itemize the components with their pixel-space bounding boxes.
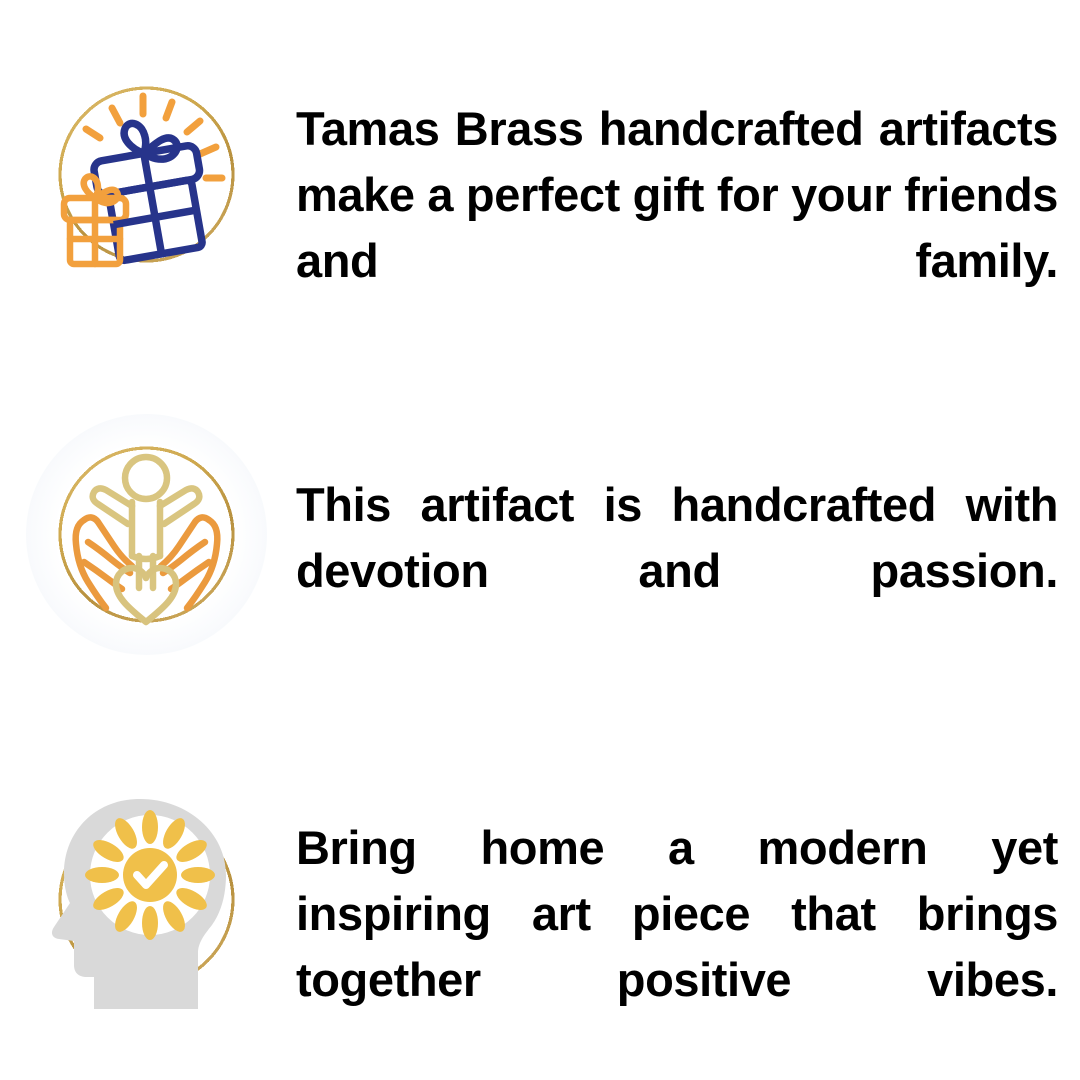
caring-hands-icon-badge	[22, 410, 271, 659]
caring-hands-person-heart-icon	[22, 410, 271, 659]
gift-boxes-icon-badge	[22, 50, 271, 299]
feature-list: Tamas Brass handcrafted artifacts make a…	[0, 0, 1080, 1080]
mindful-head-sun-check-icon	[22, 775, 271, 1024]
feature-description: Tamas Brass handcrafted artifacts make a…	[296, 96, 1058, 360]
feature-item: Tamas Brass handcrafted artifacts make a…	[0, 50, 1080, 300]
gift-boxes-icon	[22, 50, 271, 299]
feature-description: This artifact is handcrafted with devoti…	[296, 472, 1058, 670]
feature-item: This artifact is handcrafted with devoti…	[0, 410, 1080, 666]
feature-description: Bring home a modern yet inspiring art pi…	[296, 815, 1058, 1079]
mindful-head-icon-badge	[22, 775, 271, 1024]
feature-item: Bring home a modern yet inspiring art pi…	[0, 775, 1080, 1031]
